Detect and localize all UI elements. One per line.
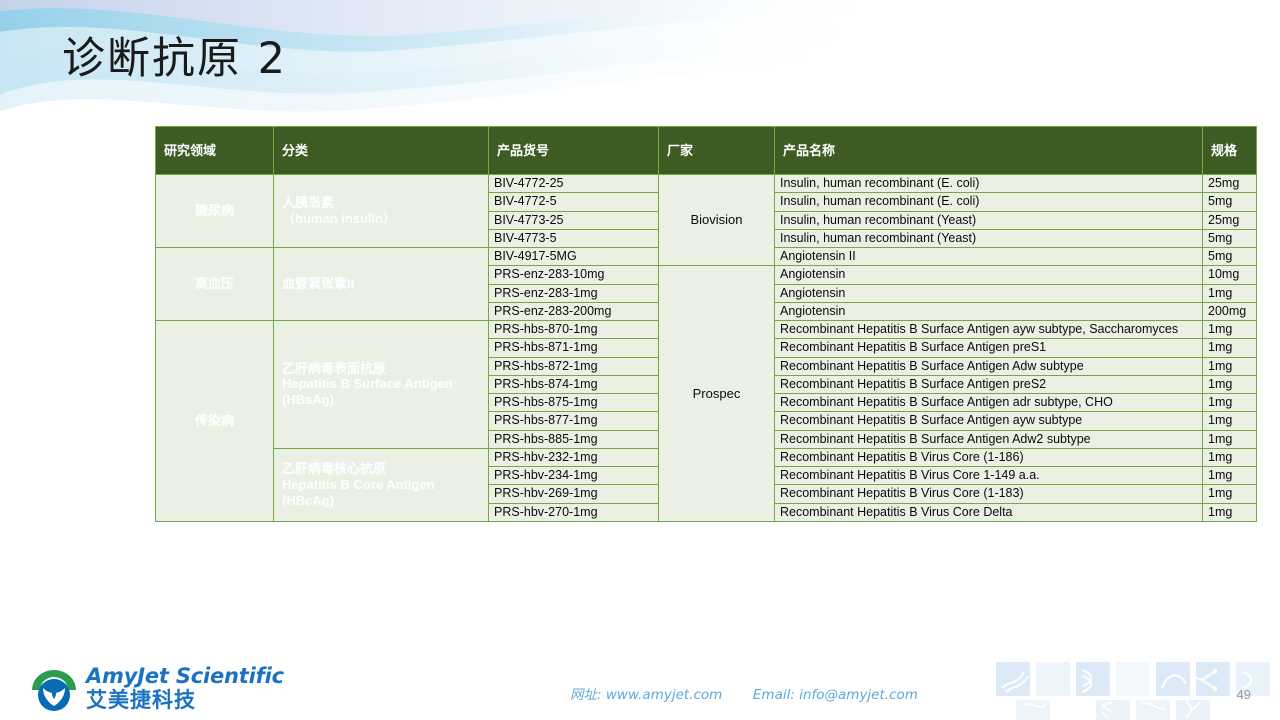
cell-product: Angiotensin <box>775 284 1203 302</box>
column-header-spec: 规格 <box>1203 127 1257 175</box>
product-table: 研究领域 分类 产品货号 厂家 产品名称 规格 糖尿病 人胰岛素 （human … <box>155 126 1257 522</box>
cell-product: Recombinant Hepatitis B Surface Antigen … <box>775 321 1203 339</box>
logo-wordmark: AmyJet Scientific 艾美捷科技 <box>86 666 284 711</box>
cell-catalog: BIV-4773-5 <box>489 229 659 247</box>
cell-product: Insulin, human recombinant (Yeast) <box>775 211 1203 229</box>
cell-spec: 1mg <box>1203 321 1257 339</box>
cell-field-infectious: 传染病 <box>156 321 274 522</box>
cell-product: Recombinant Hepatitis B Surface Antigen … <box>775 357 1203 375</box>
table-row: 糖尿病 人胰岛素 （human insulin） BIV-4772-25 Bio… <box>156 175 1257 193</box>
cell-product: Recombinant Hepatitis B Virus Core (1-18… <box>775 448 1203 466</box>
cell-catalog: PRS-hbs-875-1mg <box>489 394 659 412</box>
cell-spec: 1mg <box>1203 430 1257 448</box>
column-header-product: 产品名称 <box>775 127 1203 175</box>
class-name-en: Hepatitis B Core Antigen (HBcAg) <box>282 477 483 509</box>
cell-spec: 5mg <box>1203 248 1257 266</box>
cell-product: Recombinant Hepatitis B Surface Antigen … <box>775 430 1203 448</box>
class-name-cn: 乙肝病毒表面抗原 <box>282 361 483 377</box>
cell-catalog: BIV-4773-25 <box>489 211 659 229</box>
column-header-manufacturer: 厂家 <box>659 127 775 175</box>
cell-catalog: PRS-enz-283-200mg <box>489 302 659 320</box>
footer-contact: 网址: www.amyjet.com Email: info@amyjet.co… <box>570 683 918 703</box>
cell-product: Recombinant Hepatitis B Surface Antigen … <box>775 339 1203 357</box>
website-label: 网址: <box>570 687 602 703</box>
email-label: Email: <box>753 687 795 703</box>
page-number: 49 <box>1237 687 1251 702</box>
cell-product: Recombinant Hepatitis B Surface Antigen … <box>775 412 1203 430</box>
cell-catalog: PRS-enz-283-1mg <box>489 284 659 302</box>
cell-spec: 1mg <box>1203 503 1257 521</box>
table-header-row: 研究领域 分类 产品货号 厂家 产品名称 规格 <box>156 127 1257 175</box>
cell-spec: 25mg <box>1203 175 1257 193</box>
cell-product: Recombinant Hepatitis B Virus Core Delta <box>775 503 1203 521</box>
cell-catalog: PRS-hbv-232-1mg <box>489 448 659 466</box>
cell-class-human-insulin: 人胰岛素 （human insulin） <box>274 175 489 248</box>
cell-spec: 1mg <box>1203 375 1257 393</box>
footer: AmyJet Scientific 艾美捷科技 网址: www.amyjet.c… <box>0 662 1280 720</box>
cell-spec: 200mg <box>1203 302 1257 320</box>
column-header-class: 分类 <box>274 127 489 175</box>
cell-catalog: PRS-hbv-270-1mg <box>489 503 659 521</box>
column-header-field: 研究领域 <box>156 127 274 175</box>
cell-catalog: BIV-4772-5 <box>489 193 659 211</box>
cell-catalog: BIV-4772-25 <box>489 175 659 193</box>
cell-manufacturer-biovision: Biovision <box>659 175 775 266</box>
cell-product: Insulin, human recombinant (Yeast) <box>775 229 1203 247</box>
cell-spec: 10mg <box>1203 266 1257 284</box>
cell-catalog: PRS-enz-283-10mg <box>489 266 659 284</box>
column-header-catalog: 产品货号 <box>489 127 659 175</box>
cell-catalog: PRS-hbs-870-1mg <box>489 321 659 339</box>
cell-spec: 25mg <box>1203 211 1257 229</box>
cell-catalog: PRS-hbs-871-1mg <box>489 339 659 357</box>
cell-product: Insulin, human recombinant (E. coli) <box>775 193 1203 211</box>
email-address[interactable]: info@amyjet.com <box>799 687 918 703</box>
cell-catalog: BIV-4917-5MG <box>489 248 659 266</box>
cell-spec: 1mg <box>1203 467 1257 485</box>
cell-class-hbsag: 乙肝病毒表面抗原 Hepatitis B Surface Antigen (HB… <box>274 321 489 449</box>
amyjet-logo-icon <box>30 668 78 712</box>
cell-spec: 5mg <box>1203 193 1257 211</box>
cell-spec: 1mg <box>1203 357 1257 375</box>
product-table-container: 研究领域 分类 产品货号 厂家 产品名称 规格 糖尿病 人胰岛素 （human … <box>155 126 1256 522</box>
cell-catalog: PRS-hbv-234-1mg <box>489 467 659 485</box>
cell-product: Recombinant Hepatitis B Surface Antigen … <box>775 375 1203 393</box>
cell-catalog: PRS-hbv-269-1mg <box>489 485 659 503</box>
logo-chinese: 艾美捷科技 <box>86 690 284 711</box>
cell-catalog: PRS-hbs-877-1mg <box>489 412 659 430</box>
logo-english: AmyJet Scientific <box>86 666 284 687</box>
cell-catalog: PRS-hbs-872-1mg <box>489 357 659 375</box>
cell-catalog: PRS-hbs-874-1mg <box>489 375 659 393</box>
cell-product: Insulin, human recombinant (E. coli) <box>775 175 1203 193</box>
cell-class-angiotensin2: 血管紧张素II <box>274 248 489 321</box>
class-name-cn: 人胰岛素 <box>282 195 483 211</box>
page-title: 诊断抗原 2 <box>62 24 287 86</box>
website-url[interactable]: www.amyjet.com <box>606 687 722 703</box>
cell-class-hbcag: 乙肝病毒核心抗原 Hepatitis B Core Antigen (HBcAg… <box>274 448 489 521</box>
cell-manufacturer-prospec: Prospec <box>659 266 775 522</box>
cell-catalog: PRS-hbs-885-1mg <box>489 430 659 448</box>
cell-product: Recombinant Hepatitis B Virus Core 1-149… <box>775 467 1203 485</box>
cell-field-diabetes: 糖尿病 <box>156 175 274 248</box>
cell-product: Angiotensin <box>775 302 1203 320</box>
cell-product: Recombinant Hepatitis B Surface Antigen … <box>775 394 1203 412</box>
cell-product: Recombinant Hepatitis B Virus Core (1-18… <box>775 485 1203 503</box>
cell-spec: 5mg <box>1203 229 1257 247</box>
cell-spec: 1mg <box>1203 448 1257 466</box>
class-name-en: （human insulin） <box>282 211 483 227</box>
class-name-en: Hepatitis B Surface Antigen (HBsAg) <box>282 376 483 408</box>
cell-product: Angiotensin II <box>775 248 1203 266</box>
cell-spec: 1mg <box>1203 394 1257 412</box>
cell-field-hypertension: 高血压 <box>156 248 274 321</box>
company-logo: AmyJet Scientific 艾美捷科技 <box>30 666 270 714</box>
cell-spec: 1mg <box>1203 284 1257 302</box>
cell-spec: 1mg <box>1203 339 1257 357</box>
class-name-cn: 乙肝病毒核心抗原 <box>282 461 483 477</box>
class-name-cn: 血管紧张素II <box>282 276 483 292</box>
cell-spec: 1mg <box>1203 412 1257 430</box>
cell-product: Angiotensin <box>775 266 1203 284</box>
cell-spec: 1mg <box>1203 485 1257 503</box>
